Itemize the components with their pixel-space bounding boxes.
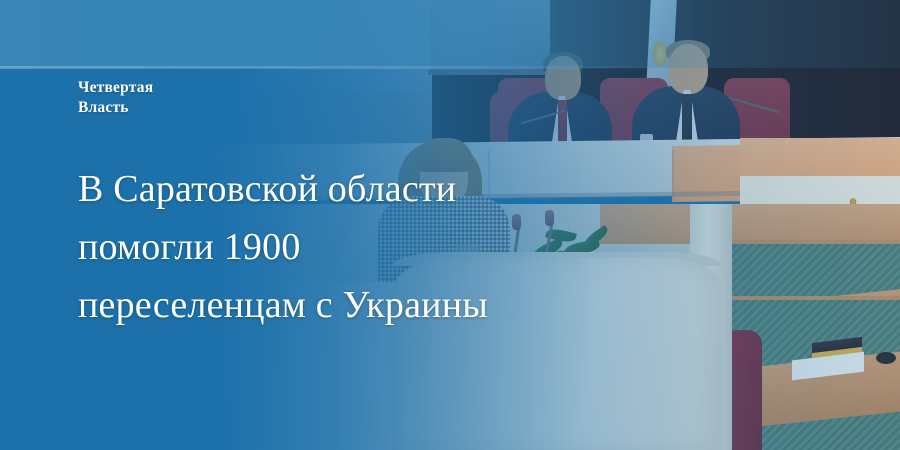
site-logo-line-2: Власть: [78, 98, 153, 118]
headline-line-2: помогли 1900: [78, 218, 678, 276]
article-teaser-card[interactable]: Четвертая Власть В Саратовской области п…: [0, 0, 900, 450]
site-logo-line-1: Четвертая: [78, 78, 153, 98]
headline-line-3: переселенцам с Украины: [78, 276, 678, 334]
headline-line-1: В Саратовской области: [78, 160, 678, 218]
overlay-seam: [0, 66, 900, 69]
site-logo[interactable]: Четвертая Власть: [78, 78, 153, 118]
brand-color-overlay-top: [0, 0, 900, 68]
article-headline[interactable]: В Саратовской области помогли 1900 перес…: [78, 160, 678, 334]
